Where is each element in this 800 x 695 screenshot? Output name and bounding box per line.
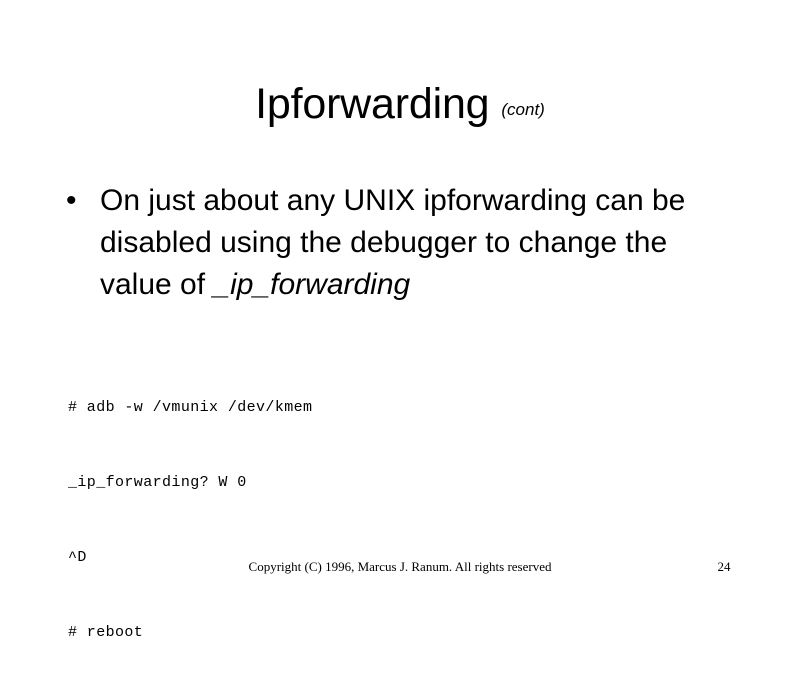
slide-body: • On just about any UNIX ipforwarding ca…: [66, 180, 726, 306]
bullet-line-1: On just about any UNIX ipforwarding: [100, 184, 587, 217]
slide-title-continuation: (cont): [501, 100, 544, 119]
code-line: # adb -w /vmunix /dev/kmem: [68, 395, 312, 420]
footer-copyright: Copyright (C) 1996, Marcus J. Ranum. All…: [0, 558, 800, 576]
bullet-line-3-emphasis: _ip_forwarding: [213, 268, 410, 301]
code-transcript: # adb -w /vmunix /dev/kmem _ip_forwardin…: [68, 345, 312, 695]
footer-page-number: 24: [700, 558, 748, 576]
slide-canvas: Ipforwarding(cont) • On just about any U…: [0, 0, 800, 600]
slide-title: Ipforwarding(cont): [0, 83, 800, 126]
code-line: _ip_forwarding? W 0: [68, 470, 312, 495]
bullet-marker-icon: •: [66, 180, 100, 222]
bullet-text: On just about any UNIX ipforwarding can …: [100, 180, 726, 306]
bullet-item: • On just about any UNIX ipforwarding ca…: [66, 180, 726, 306]
slide-title-main: Ipforwarding: [255, 80, 489, 128]
code-line: # reboot: [68, 620, 312, 645]
